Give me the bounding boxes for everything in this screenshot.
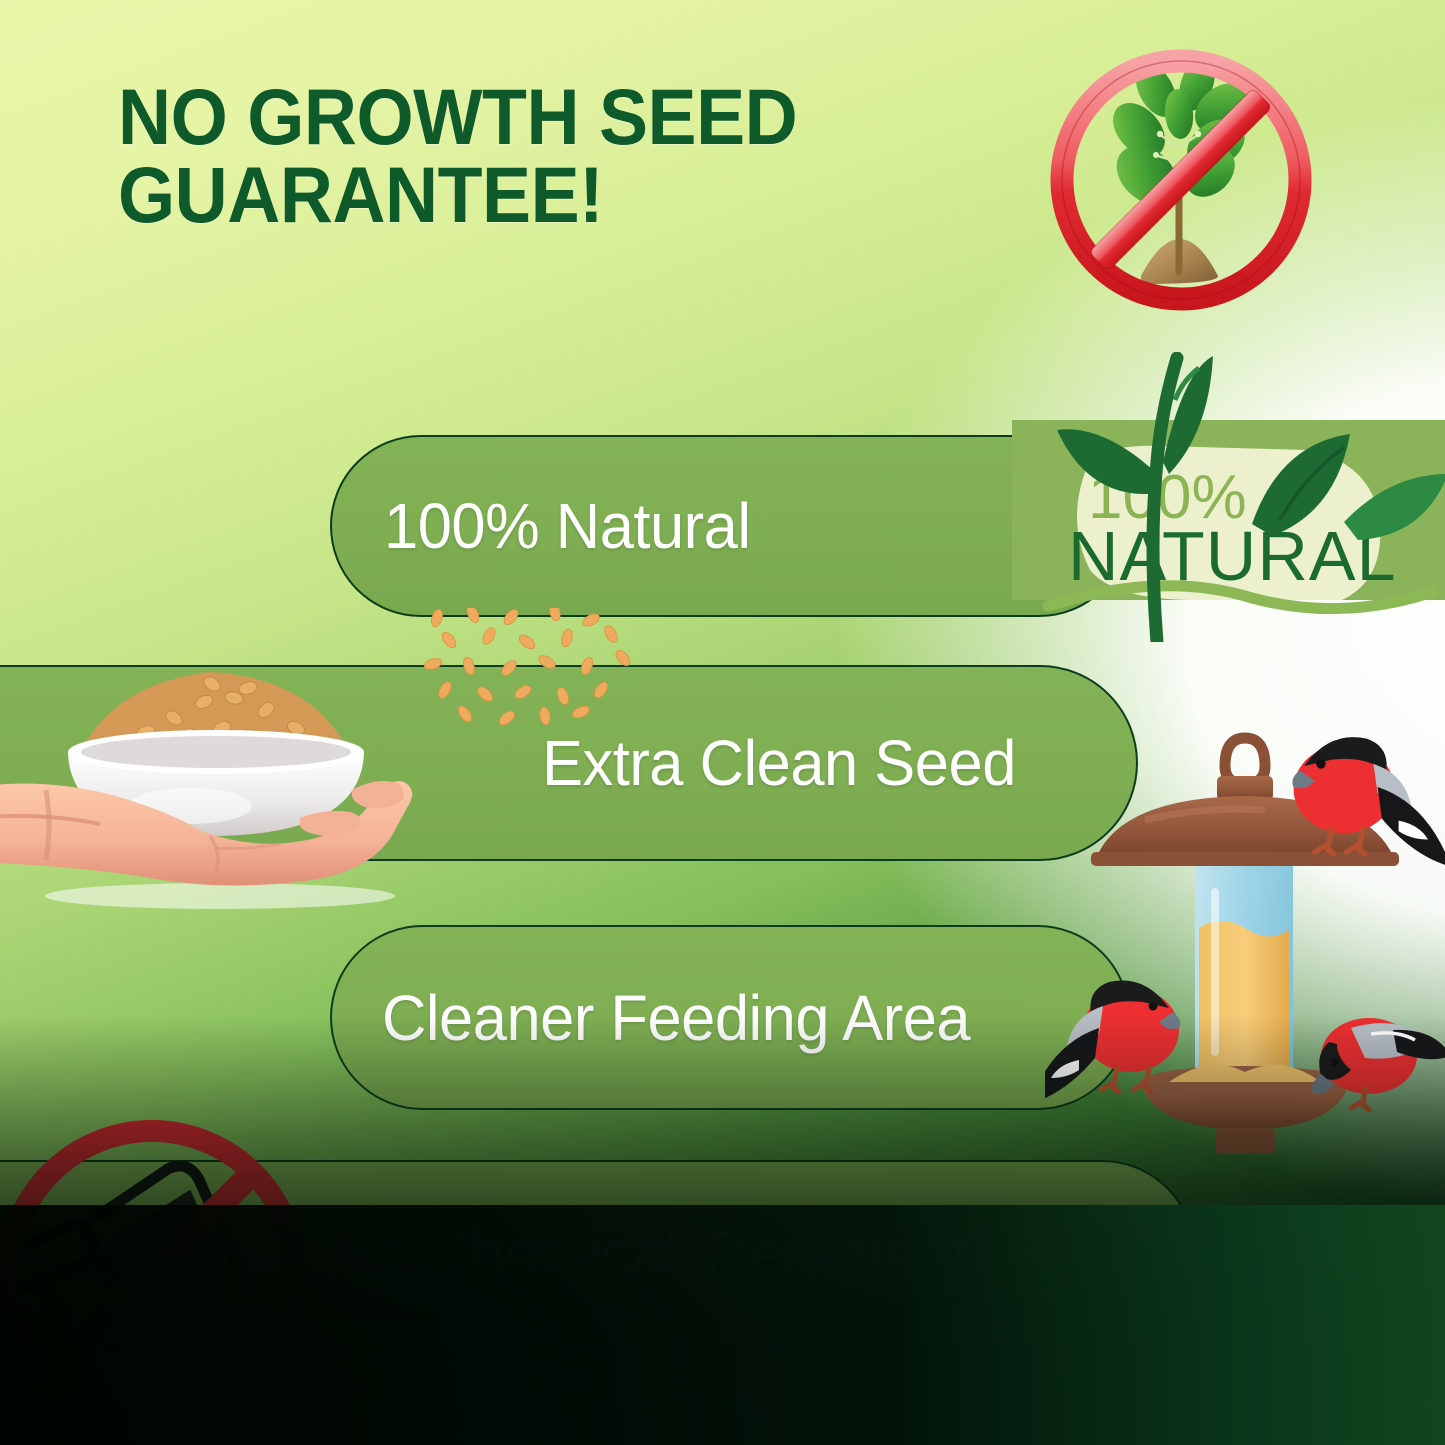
feature-pill-natural[interactable]: 100% Natural [330,435,1130,617]
page-title: NO GROWTH SEED GUARANTEE! [118,78,918,234]
feature-pill-feeding-area[interactable]: Cleaner Feeding Area [330,925,1130,1110]
leaf-icon [1053,352,1233,642]
no-chemical-treatment-icon [0,1108,322,1438]
feature-label-feeding-area: Cleaner Feeding Area [382,981,970,1055]
feature-label-clean-seed: Extra Clean Seed [542,726,1016,800]
hand-holding-seed-bowl-icon [0,640,520,910]
feature-label-natural: 100% Natural [384,489,751,563]
no-plant-growth-icon [1046,44,1316,316]
bird-feeder-with-bullfinches-icon [1045,700,1445,1160]
leaf-icon [1240,430,1445,590]
poster-canvas: NO GROWTH SEED GUARANTEE! [0,0,1445,1445]
feature-label-no-chemical: No Chemical Treatment [332,1216,967,1290]
